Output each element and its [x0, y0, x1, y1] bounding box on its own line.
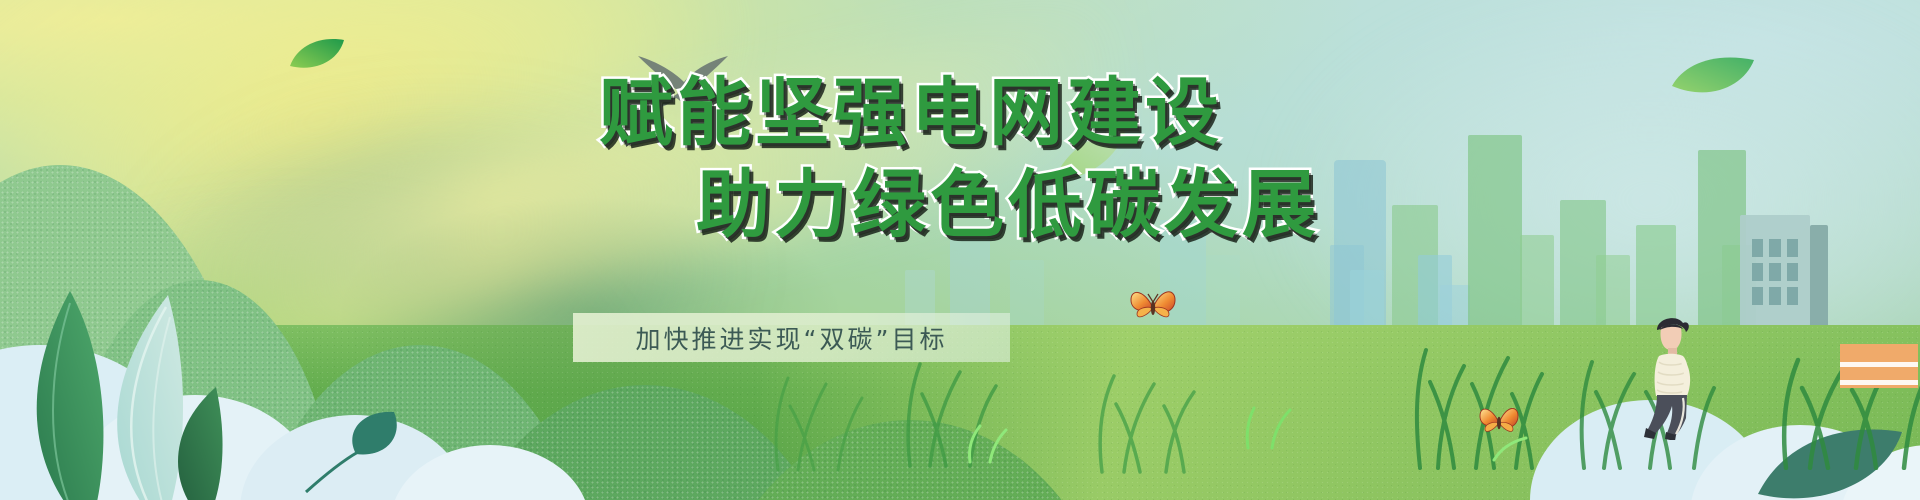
building-window-grid — [1752, 239, 1798, 305]
leaf-icon-floating-left — [288, 36, 346, 70]
butterfly-icon — [1129, 286, 1177, 326]
subtitle-plate: 加快推进实现“双碳”目标 — [573, 313, 1010, 362]
headline-group: 赋能坚强电网建设 助力绿色低碳发展 — [0, 70, 1920, 248]
leaf-icon-floating-mid — [1050, 128, 1130, 184]
headline-line-1: 赋能坚强电网建设 — [0, 70, 1920, 156]
swallow-icon — [636, 54, 730, 116]
subtitle-text: 加快推进实现“双碳”目标 — [636, 320, 948, 356]
eco-banner: 赋能坚强电网建设 助力绿色低碳发展 加快推进实现“双碳”目标 — [0, 0, 1920, 500]
leaf-icon-floating-right — [1670, 52, 1756, 102]
walking-person-icon — [1637, 310, 1707, 440]
